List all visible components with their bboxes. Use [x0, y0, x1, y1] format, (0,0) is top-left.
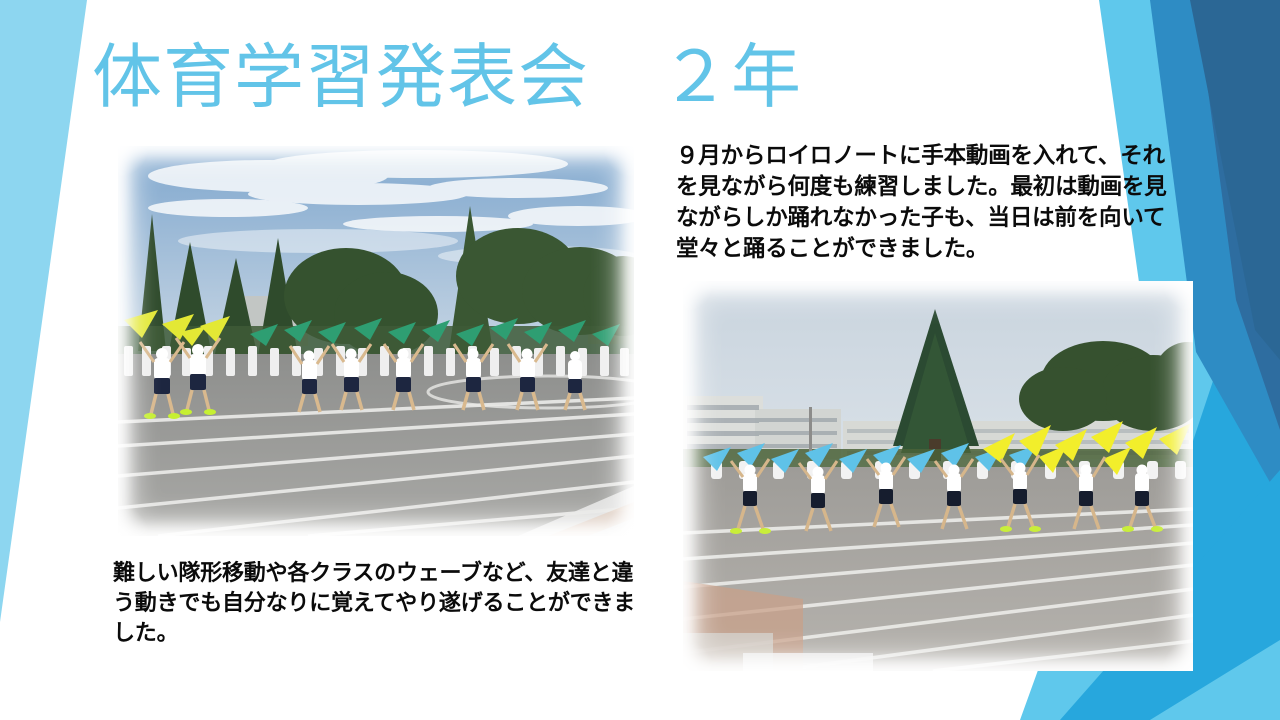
page-title: 体育学習発表会 ２年	[92, 34, 912, 122]
photo-sports-day-green-flags	[118, 146, 634, 536]
presentation-slide: 体育学習発表会 ２年	[0, 0, 1280, 720]
left-blue-band	[0, 0, 87, 622]
right-dark-blue-band	[1196, 0, 1280, 430]
caption-paragraph-left: 難しい隊形移動や各クラスのウェーブなど、友達と違う動きでも自分なりに覚えてやり遂…	[113, 558, 653, 648]
photo-sports-day-yellow-blue-flags	[683, 281, 1193, 671]
description-paragraph-right: ９月からロイロノートに手本動画を入れて、それを見ながら何度も練習しました。最初は…	[676, 140, 1176, 264]
right-deep-blue-wedge	[1190, 0, 1280, 360]
